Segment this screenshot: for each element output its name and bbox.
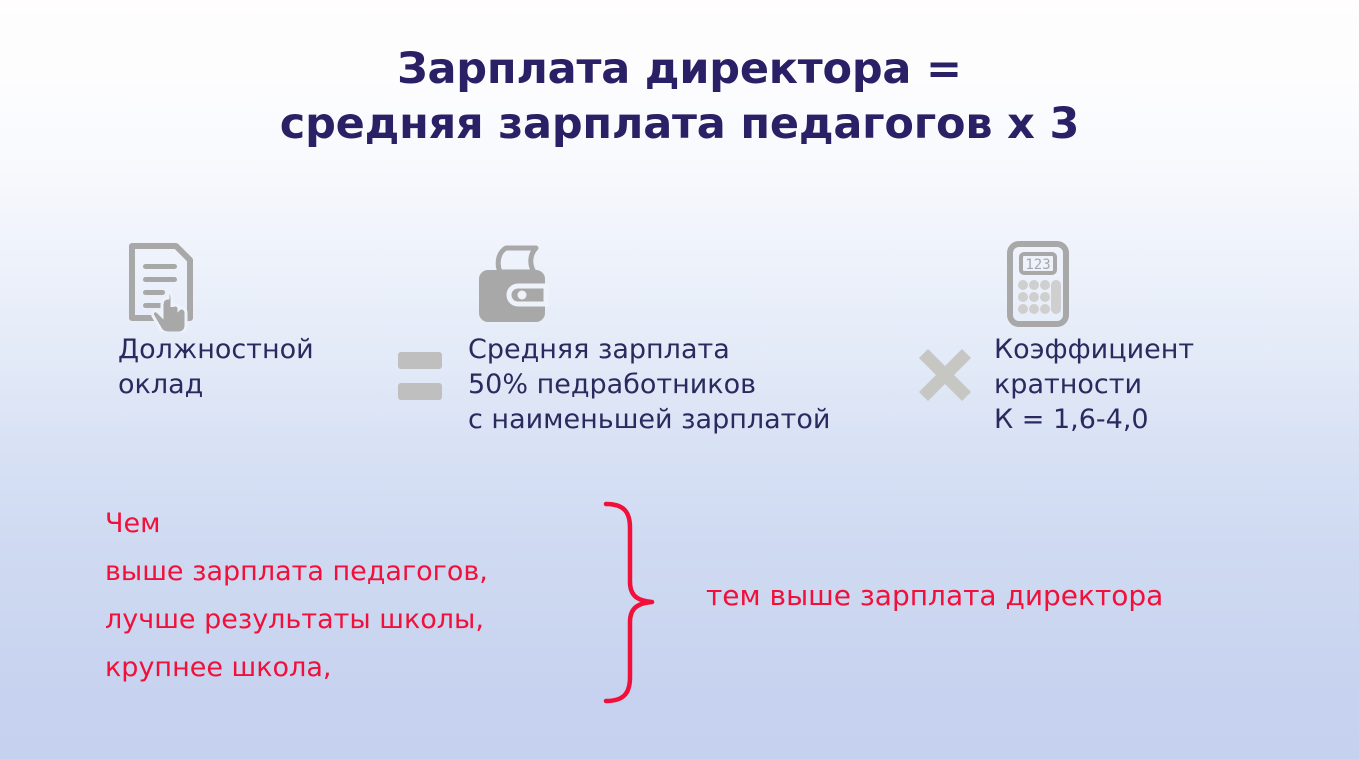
slide: Зарплата директора = средняя зарплата пе… [0, 0, 1359, 759]
title-line-1: Зарплата директора = [0, 42, 1359, 97]
term-1-line-1: Должностной [118, 332, 314, 367]
formula-term-coefficient: 123 Коэффициент кратности К = 1,6-4,0 [994, 240, 1194, 437]
conclusion-conditions: Чем выше зарплата педагогов, лучше резул… [105, 500, 488, 692]
equals-bar-top [398, 352, 442, 369]
condition-line-4: крупнее школа, [105, 644, 488, 692]
formula-term-average-salary: Средняя зарплата 50% педработников с наи… [468, 240, 830, 437]
formula-term-2-text: Средняя зарплата 50% педработников с наи… [468, 332, 830, 437]
condition-line-2: выше зарплата педагогов, [105, 548, 488, 596]
formula-row: Должностной оклад Средняя зарплата 50% п [0, 240, 1359, 470]
term-3-line-1: Коэффициент [994, 332, 1194, 367]
document-signature-icon [124, 240, 314, 332]
formula-term-salary-base: Должностной оклад [118, 240, 314, 402]
right-curly-brace-icon [600, 500, 670, 709]
conclusion-result: тем выше зарплата директора [706, 578, 1163, 614]
multiply-operator [916, 346, 974, 408]
formula-term-3-text: Коэффициент кратности К = 1,6-4,0 [994, 332, 1194, 437]
title-line-2: средняя зарплата педагогов х 3 [0, 97, 1359, 152]
condition-line-1: Чем [105, 500, 488, 548]
wallet-icon [476, 240, 830, 332]
term-1-line-2: оклад [118, 367, 314, 402]
slide-title: Зарплата директора = средняя зарплата пе… [0, 42, 1359, 152]
conclusion-block: Чем выше зарплата педагогов, лучше резул… [0, 495, 1359, 725]
equals-bar-bottom [398, 383, 442, 400]
calculator-icon: 123 [1006, 240, 1194, 332]
formula-term-1-text: Должностной оклад [118, 332, 314, 402]
equals-operator [398, 352, 442, 400]
term-2-line-1: Средняя зарплата [468, 332, 830, 367]
term-3-line-2: кратности [994, 367, 1194, 402]
condition-line-3: лучше результаты школы, [105, 596, 488, 644]
term-2-line-3: с наименьшей зарплатой [468, 402, 830, 437]
term-3-line-3: К = 1,6-4,0 [994, 402, 1194, 437]
calculator-display-text: 123 [1025, 257, 1050, 273]
term-2-line-2: 50% педработников [468, 367, 830, 402]
